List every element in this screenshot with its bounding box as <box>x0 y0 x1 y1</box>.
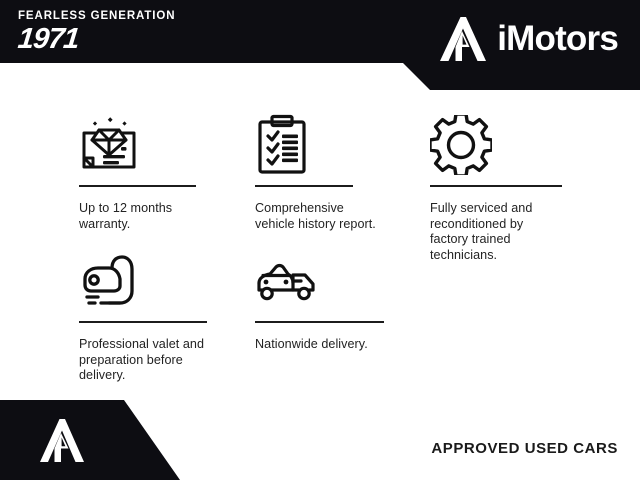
feature-text: Up to 12 months warranty. <box>79 201 197 232</box>
feature-grid: Up to 12 months warranty. <box>0 90 640 390</box>
gear-icon <box>430 115 492 175</box>
year-1971-logotype: 1971 <box>16 24 279 55</box>
feature-text: Fully serviced and reconditioned by fact… <box>430 201 563 263</box>
feature-item: Comprehensive vehicle history report. <box>255 109 379 232</box>
feature-icon-slot <box>79 109 197 181</box>
promo-banner: FEARLESS GENERATION 1971 iMotors <box>0 0 640 480</box>
banner-header: FEARLESS GENERATION 1971 iMotors <box>0 0 640 90</box>
warranty-certificate-icon <box>79 115 141 175</box>
car-transporter-truck-icon <box>255 257 319 305</box>
brand-lockup: iMotors <box>439 16 618 62</box>
feature-item: Up to 12 months warranty. <box>79 109 197 232</box>
feature-divider <box>430 185 562 187</box>
feature-divider <box>255 321 384 323</box>
clipboard-checklist-icon <box>255 114 309 176</box>
feature-icon-slot <box>430 109 563 181</box>
feature-text: Comprehensive vehicle history report. <box>255 201 379 232</box>
feature-item: Nationwide delivery. <box>255 245 385 353</box>
feature-icon-slot <box>79 245 208 317</box>
approved-used-cars-tagline: APPROVED USED CARS <box>431 440 618 458</box>
footer-angled-shape <box>0 400 200 480</box>
header-left-group: FEARLESS GENERATION 1971 <box>18 9 278 55</box>
feature-text: Nationwide delivery. <box>255 337 385 353</box>
feature-divider <box>255 185 353 187</box>
vacuum-cleaner-icon <box>79 253 141 309</box>
feature-icon-slot <box>255 109 379 181</box>
feature-text: Professional valet and preparation befor… <box>79 337 208 384</box>
feature-item: Professional valet and preparation befor… <box>79 245 208 384</box>
imotors-arrow-mark-icon <box>439 16 487 62</box>
fearless-generation-tagline: FEARLESS GENERATION <box>18 9 278 23</box>
feature-item: Fully serviced and reconditioned by fact… <box>430 109 563 263</box>
brand-name-text: iMotors <box>497 19 618 59</box>
feature-icon-slot <box>255 245 385 317</box>
feature-divider <box>79 321 207 323</box>
imotors-arrow-mark-icon <box>39 418 85 463</box>
feature-divider <box>79 185 196 187</box>
